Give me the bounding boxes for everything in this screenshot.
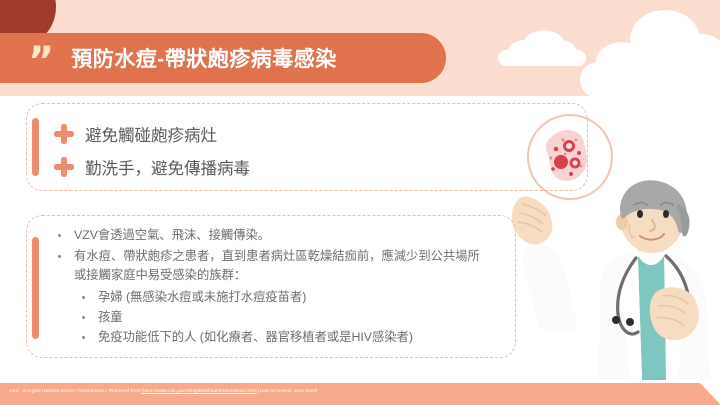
citation-text: CDC. Shingles (Herpes Zoster) Transmissi… (9, 388, 318, 393)
highlight-accent-bar (32, 118, 39, 176)
plus-icon (54, 157, 74, 177)
sub-bullet-list: 孕婦 (無感染水痘或未施打水痘疫苗者) 孩童 免疫功能低下的人 (如化療者、器官… (52, 288, 492, 348)
sub-bullet-item: 孕婦 (無感染水痘或未施打水痘疫苗者) (52, 288, 492, 308)
highlight-item: 避免觸碰皰疹病灶 (54, 122, 217, 146)
citation-link[interactable]: https://www.cdc.gov/shingles/about/trans… (142, 388, 257, 393)
body-accent-bar (32, 237, 39, 339)
page-title: 預防水痘-帶狀皰疹病毒感染 (71, 43, 337, 73)
highlight-item: 勤洗手，避免傳播病毒 (54, 155, 250, 179)
bullet-item: VZV會透過空氣、飛沫、接觸傳染。 (52, 226, 492, 245)
citation-prefix: CDC. Shingles (Herpes Zoster) Transmissi… (9, 388, 142, 393)
highlight-item-label: 勤洗手，避免傳播病毒 (85, 155, 250, 179)
citation-suffix: (Last accessed: June 2023) (257, 388, 318, 393)
bullet-item: 有水痘、帶狀皰疹之患者，直到患者病灶區乾燥結痂前，應減少到公共場所或接觸家庭中易… (52, 247, 492, 285)
sub-bullet-item: 孩童 (52, 308, 492, 328)
footer-bar: CDC. Shingles (Herpes Zoster) Transmissi… (0, 383, 720, 405)
cloud-shape-icon (546, 40, 576, 62)
highlight-item-label: 避免觸碰皰疹病灶 (85, 122, 217, 146)
slide-canvas: ” 預防水痘-帶狀皰疹病毒感染 (0, 0, 720, 405)
mountain-shape-icon (630, 10, 700, 70)
sub-bullet-item: 免疫功能低下的人 (如化療者、器官移植者或是HIV感染者) (52, 328, 492, 348)
plus-icon (54, 124, 74, 144)
quote-mark-icon: ” (28, 42, 53, 82)
body-bullet-list: VZV會透過空氣、飛沫、接觸傳染。 有水痘、帶狀皰疹之患者，直到患者病灶區乾燥結… (52, 226, 492, 348)
title-banner: ” 預防水痘-帶狀皰疹病毒感染 (0, 33, 446, 83)
